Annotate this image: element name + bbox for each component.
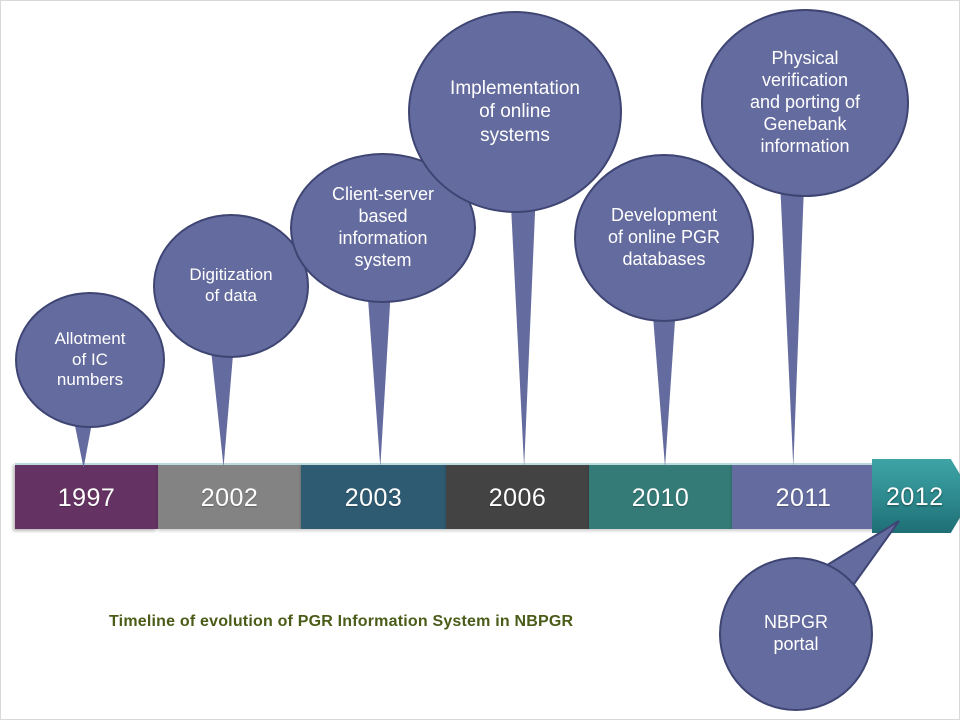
timeline-year-2003: 2003 (345, 484, 403, 513)
event-label-2010: Development of online PGR databases (598, 205, 730, 271)
timeline-segment-2002[interactable]: 2002 (158, 463, 301, 529)
event-balloon-2010[interactable]: Development of online PGR databases (574, 154, 754, 322)
event-label-2006: Implementation of online systems (440, 77, 590, 147)
balloon-tail-2011 (779, 159, 805, 467)
timeline-year-2002: 2002 (201, 484, 259, 513)
timeline-segment-2010[interactable]: 2010 (589, 463, 732, 529)
timeline-segment-2003[interactable]: 2003 (301, 463, 446, 529)
timeline-year-2011: 2011 (776, 484, 832, 513)
timeline-segment-2011[interactable]: 2011 (732, 463, 875, 529)
timeline-bar: 1997 2002 2003 2006 2010 2011 2012 (15, 463, 943, 529)
event-balloon-2012[interactable]: NBPGR portal (719, 557, 873, 711)
timeline-year-1997: 1997 (58, 484, 116, 513)
event-label-2012: NBPGR portal (754, 612, 838, 656)
event-balloon-2006[interactable]: Implementation of online systems (408, 11, 622, 213)
event-label-1997: Allotment of IC numbers (45, 329, 136, 391)
timeline-year-2010: 2010 (632, 484, 690, 513)
timeline-segment-2006[interactable]: 2006 (446, 463, 589, 529)
event-balloon-1997[interactable]: Allotment of IC numbers (15, 292, 165, 428)
event-label-2003: Client-server based information system (322, 184, 444, 272)
timeline-year-2006: 2006 (489, 484, 547, 513)
timeline-year-2012: 2012 (886, 483, 944, 512)
event-balloon-2011[interactable]: Physical verification and porting of Gen… (701, 9, 909, 197)
timeline-segment-1997[interactable]: 1997 (15, 463, 158, 529)
timeline-diagram: 1997 2002 2003 2006 2010 2011 2012 Allot… (0, 0, 960, 720)
event-balloon-2002[interactable]: Digitization of data (153, 214, 309, 358)
event-label-2002: Digitization of data (179, 265, 282, 306)
timeline-segment-2012-arrow[interactable]: 2012 (872, 459, 960, 533)
diagram-caption: Timeline of evolution of PGR Information… (109, 613, 573, 631)
event-label-2011: Physical verification and porting of Gen… (740, 48, 870, 158)
